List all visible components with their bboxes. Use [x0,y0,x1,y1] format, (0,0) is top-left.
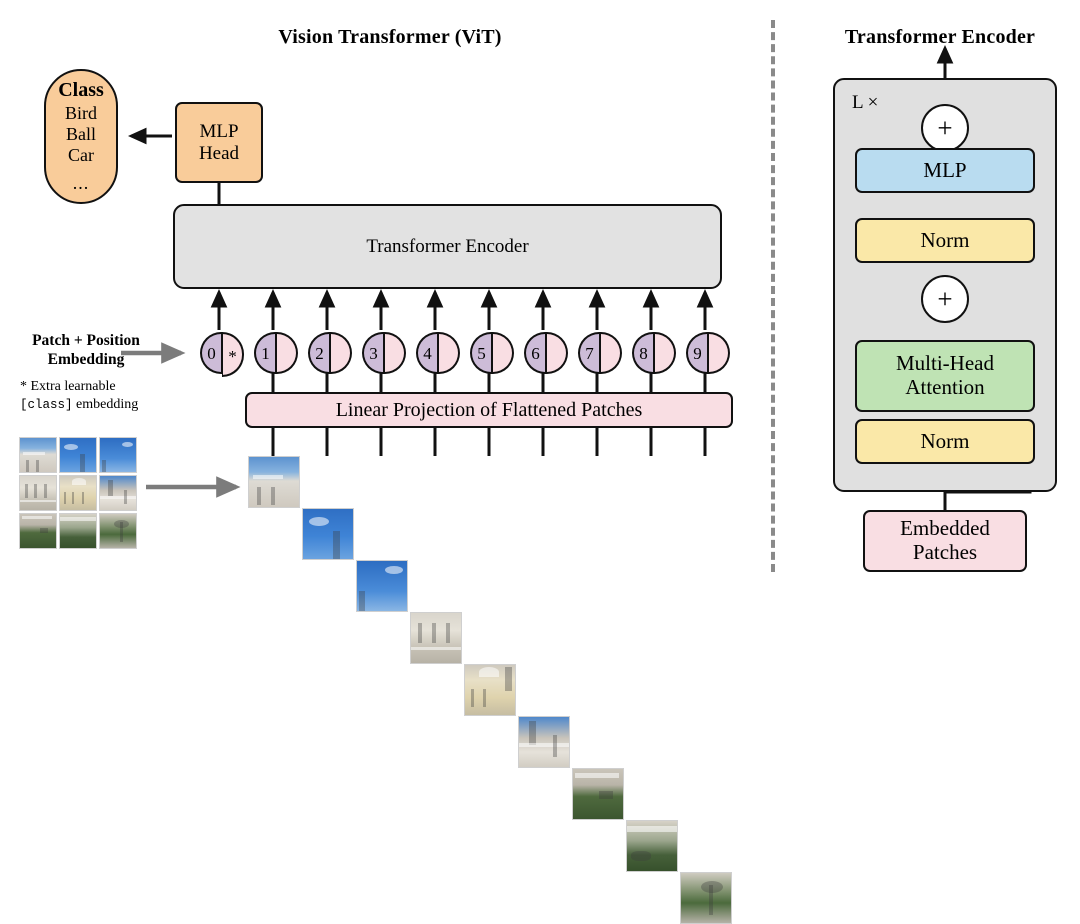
multi-head-attention-block[interactable]: Multi-Head Attention [855,340,1035,412]
token-5[interactable]: 5 [470,332,514,374]
seq-patch-7 [572,768,624,820]
extra-note-line1: * Extra learnable [20,378,195,396]
class-header: Class [58,79,104,101]
attention-label-line1: Multi-Head [896,352,994,376]
seq-patch-3 [356,560,408,612]
patch-sequence [245,456,733,508]
norm-block-bottom-label: Norm [921,430,970,454]
token-9[interactable]: 9 [686,332,730,374]
attention-label-line2: Attention [905,376,984,400]
figure-canvas: Vision Transformer (ViT) Transformer Enc… [0,0,1080,593]
token-3[interactable]: 3 [362,332,406,374]
class-output-box[interactable]: Class Bird Ball Car ... [44,69,118,204]
add-node-top[interactable]: + [921,104,969,152]
norm-block-top-label: Norm [921,229,970,253]
token-6-index: 6 [524,332,546,374]
token-5-index: 5 [470,332,492,374]
token-8-embed [654,332,676,374]
token-1-embed [276,332,298,374]
token-0-mark: * [222,332,244,377]
add-node-bottom[interactable]: + [921,275,969,323]
class-entry-bird: Bird [65,103,97,124]
token-7-embed [600,332,622,374]
source-patch-0-2 [99,437,137,473]
source-patch-2-1 [59,513,97,549]
token-8-index: 8 [632,332,654,374]
repeat-count-label: L × [852,92,878,114]
token-4-index: 4 [416,332,438,374]
token-3-index: 3 [362,332,384,374]
seq-patch-6 [518,716,570,768]
source-patch-0-0 [19,437,57,473]
linear-projection-box[interactable]: Linear Projection of Flattened Patches [245,392,733,428]
token-1-index: 1 [254,332,276,374]
class-entry-ball: Ball [66,124,96,145]
add-node-bottom-symbol: + [937,286,952,313]
token-7-index: 7 [578,332,600,374]
right-panel-title: Transformer Encoder [810,26,1070,49]
source-patch-0-1 [59,437,97,473]
patch-position-embedding-label: Patch + Position Embedding [6,332,166,369]
token-0[interactable]: 0 * [200,332,244,377]
source-patch-1-1 [59,475,97,511]
norm-block-top[interactable]: Norm [855,218,1035,263]
token-7[interactable]: 7 [578,332,622,374]
token-3-embed [384,332,406,374]
source-patch-1-0 [19,475,57,511]
extra-note-suffix: embedding [73,397,139,412]
seq-patch-5 [464,664,516,716]
class-entry-car: Car [68,145,94,166]
mlp-head-label-line2: Head [199,143,239,164]
extra-learnable-note: * Extra learnable [class] embedding [20,378,195,414]
embedded-patches-label-line1: Embedded [900,517,990,541]
token-to-encoder-arrows [219,292,705,330]
token-9-index: 9 [686,332,708,374]
seq-patch-2 [302,508,354,560]
token-4-embed [438,332,460,374]
token-1[interactable]: 1 [254,332,298,374]
mlp-block-label: MLP [923,159,966,183]
embedding-label-line2: Embedding [6,351,166,370]
token-2[interactable]: 2 [308,332,352,374]
source-patch-2-0 [19,513,57,549]
extra-note-line2: [class] embedding [20,396,195,414]
token-8[interactable]: 8 [632,332,676,374]
transformer-encoder-label: Transformer Encoder [366,236,528,257]
seq-patch-9 [680,872,732,924]
source-patch-2-2 [99,513,137,549]
class-ellipsis: ... [73,173,90,193]
transformer-encoder-box[interactable]: Transformer Encoder [173,204,722,289]
add-node-top-symbol: + [937,115,952,142]
mlp-block[interactable]: MLP [855,148,1035,193]
norm-block-bottom[interactable]: Norm [855,419,1035,464]
mlp-head-label-line1: MLP [199,121,238,142]
seq-patch-8 [626,820,678,872]
token-2-index: 2 [308,332,330,374]
token-2-embed [330,332,352,374]
linear-projection-label: Linear Projection of Flattened Patches [336,399,643,421]
left-panel-title: Vision Transformer (ViT) [180,26,600,49]
token-0-index: 0 [200,332,222,374]
token-6-embed [546,332,568,374]
token-to-projection-stems [273,372,705,392]
seq-patch-1 [248,456,300,508]
token-4[interactable]: 4 [416,332,460,374]
source-patch-1-2 [99,475,137,511]
class-token-code: [class] [20,398,73,412]
seq-patch-4 [410,612,462,664]
panel-divider [771,20,775,572]
source-image-grid [19,437,139,552]
embedded-patches-block[interactable]: Embedded Patches [863,510,1027,572]
embedded-patches-label-line2: Patches [913,541,977,565]
mlp-head-box[interactable]: MLP Head [175,102,263,183]
token-5-embed [492,332,514,374]
embedding-label-line1: Patch + Position [6,332,166,351]
projection-to-patch-stems [273,428,705,456]
token-6[interactable]: 6 [524,332,568,374]
token-9-embed [708,332,730,374]
